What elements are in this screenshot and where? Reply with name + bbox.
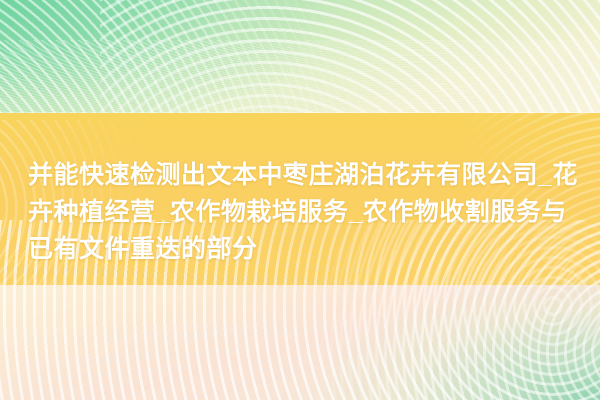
top-left-green-wash [0,0,330,113]
banner-headline: 并能快速检测出文本中枣庄湖泊花卉有限公司_花卉种植经营_农作物栽培服务_农作物收… [28,157,588,268]
bottom-right-green-wash [270,280,600,400]
decorative-text-banner: 并能快速检测出文本中枣庄湖泊花卉有限公司_花卉种植经营_农作物栽培服务_农作物收… [0,0,600,400]
